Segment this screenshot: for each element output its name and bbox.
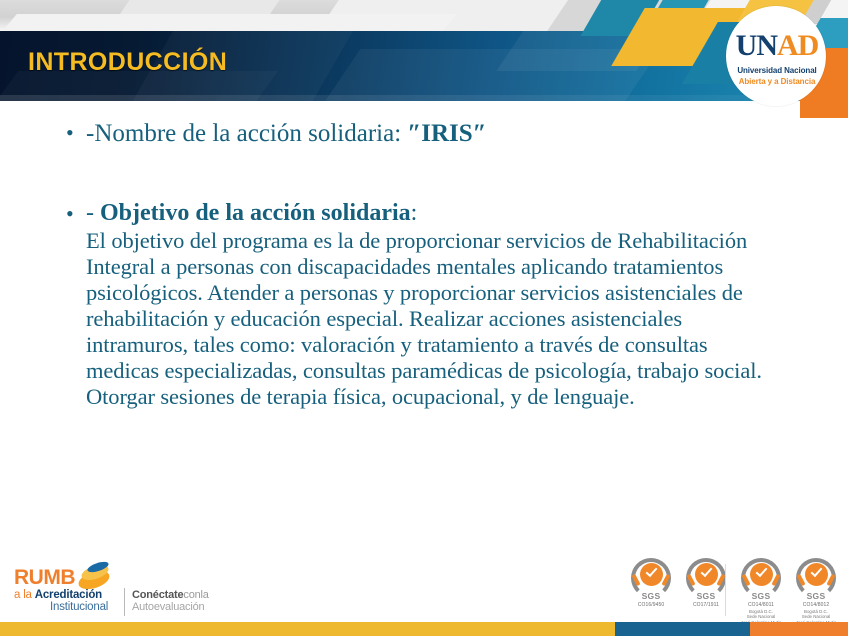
slide-footer: RUMB a la Acreditación Institucional Con…: [0, 554, 848, 636]
bullet-marker: •: [66, 199, 74, 229]
bullet-text-nombre: -Nombre de la acción solidaria: ″IRIS″: [86, 118, 782, 149]
sgs-check-icon: [627, 558, 675, 592]
bullet-item-nombre: • -Nombre de la acción solidaria: ″IRIS″: [62, 118, 782, 149]
unad-wordmark-ad: AD: [777, 29, 818, 62]
conectate-bold: Conéctate: [132, 589, 183, 601]
rumbo-line2-bold: Acreditación: [35, 589, 102, 601]
footer-bar-yellow: [0, 622, 615, 636]
footer-divider: [725, 564, 726, 616]
unad-subtitle-line1: Universidad Nacional: [728, 66, 826, 75]
slide: INTRODUCCIÓN UNAD Universidad Nacional A…: [0, 0, 848, 636]
conectate-line1: Conéctateconla: [132, 589, 209, 601]
rumbo-globe-icon: [76, 563, 112, 589]
slide-body: • -Nombre de la acción solidaria: ″IRIS″…: [62, 118, 782, 410]
sgs-check-icon: [682, 558, 730, 592]
sgs-code: CO16/9450: [627, 602, 675, 608]
footer-bar-orange: [750, 622, 848, 636]
bullet-nombre-prefix: -Nombre de la acción solidaria:: [86, 120, 407, 147]
page-title: INTRODUCCIÓN: [28, 48, 227, 77]
objetivo-heading-post: :: [411, 200, 418, 226]
sgs-check-icon: [792, 558, 840, 592]
rumbo-line2-light: a la: [14, 589, 35, 601]
sgs-code: CO14/8012: [792, 602, 840, 608]
bullet-heading-objetivo: - Objetivo de la acción solidaria:: [86, 199, 782, 227]
sgs-badge: SGS CO17/1911: [682, 558, 730, 608]
objetivo-heading-pre: -: [86, 200, 100, 226]
sgs-check-icon: [737, 558, 785, 592]
sgs-code: CO14/8011: [737, 602, 785, 608]
bullet-marker: •: [66, 118, 74, 148]
rumbo-line3: Institucional: [50, 601, 108, 613]
bullet-item-objetivo: • - Objetivo de la acción solidaria: El …: [62, 199, 782, 410]
objetivo-heading-bold: Objetivo de la acción solidaria: [100, 200, 411, 226]
rumbo-line2: a la Acreditación: [14, 589, 102, 601]
rumbo-acreditacion-logo: RUMB a la Acreditación Institucional Con…: [14, 562, 214, 614]
objetivo-paragraph: El objetivo del programa es la de propor…: [86, 228, 782, 410]
unad-subtitle-line2: Abierta y a Distancia: [728, 77, 826, 86]
sgs-badge: SGS CO14/8011 Bogotá D.C. Sede Nacional …: [737, 558, 785, 625]
conectate-light: conla: [183, 589, 208, 601]
sgs-badge: SGS CO14/8012 Bogotá D.C. Sede Nacional …: [792, 558, 840, 625]
sgs-badge: SGS CO16/9450: [627, 558, 675, 608]
rumbo-wordmark: RUMB: [14, 566, 75, 590]
decor-facet: [0, 14, 457, 31]
sgs-code: CO17/1911: [682, 602, 730, 608]
conectate-line2: Autoevaluación: [132, 601, 204, 613]
unad-wordmark-un: UN: [736, 29, 777, 62]
unad-wordmark: UNAD: [734, 31, 820, 61]
footer-color-bar: [0, 622, 848, 636]
bullet-nombre-emphasis: ″IRIS″: [407, 120, 486, 147]
footer-bar-blue: [615, 622, 751, 636]
footer-divider: [124, 588, 125, 616]
certification-badges: SGS CO16/9450 SGS CO17/1911 SGS CO14/801…: [627, 558, 840, 620]
